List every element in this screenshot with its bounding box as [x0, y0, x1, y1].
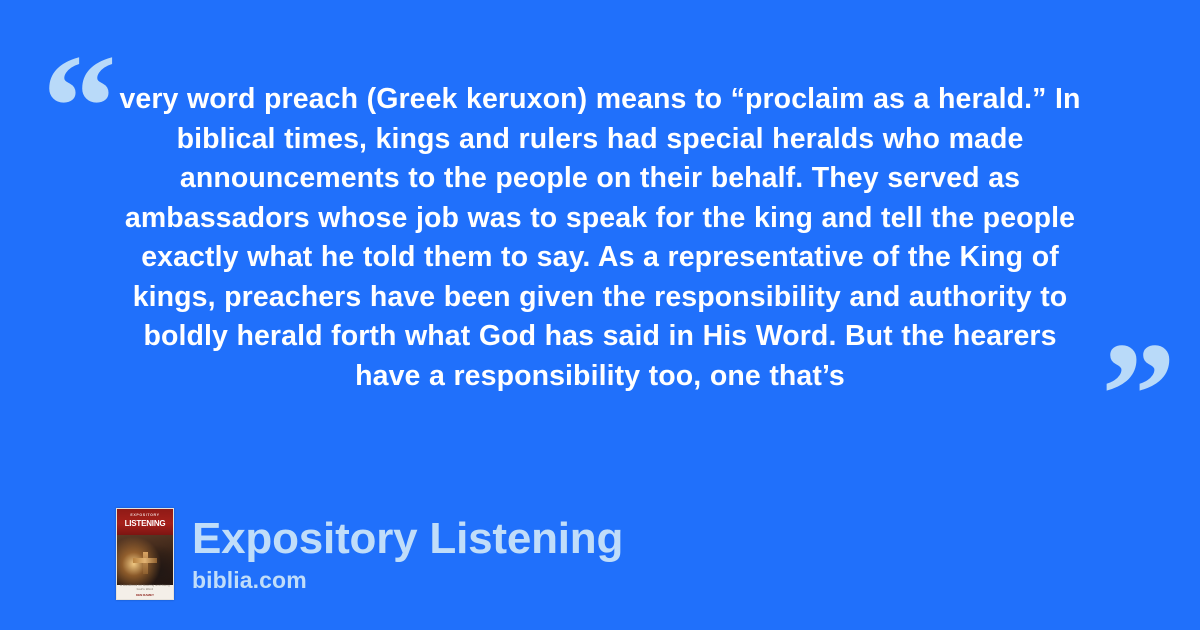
quote-card: “ very word preach (Greek keruxon) means…: [0, 0, 1200, 630]
book-cover-eyebrow: EXPOSITORY: [117, 513, 173, 517]
quote-text: very word preach (Greek keruxon) means t…: [118, 80, 1082, 396]
cross-icon: [143, 552, 148, 574]
book-cover-photo: [117, 535, 173, 585]
book-cover-thumbnail: EXPOSITORY LISTENING A Handbook for Hear…: [116, 508, 174, 600]
footer: EXPOSITORY LISTENING A Handbook for Hear…: [116, 508, 623, 600]
book-cover-author: KEN RAMEY: [117, 593, 173, 597]
cross-crossbar-icon: [133, 558, 158, 563]
opening-quote-icon: “: [42, 32, 115, 182]
footer-text-block: Expository Listening biblia.com: [192, 514, 623, 594]
book-cover-title: LISTENING: [117, 519, 173, 528]
book-title: Expository Listening: [192, 514, 623, 564]
closing-quote-icon: ”: [1101, 320, 1174, 470]
book-cover-subtitle: A Handbook for Hearing and Doing God's W…: [117, 583, 173, 591]
source-link[interactable]: biblia.com: [192, 566, 623, 594]
